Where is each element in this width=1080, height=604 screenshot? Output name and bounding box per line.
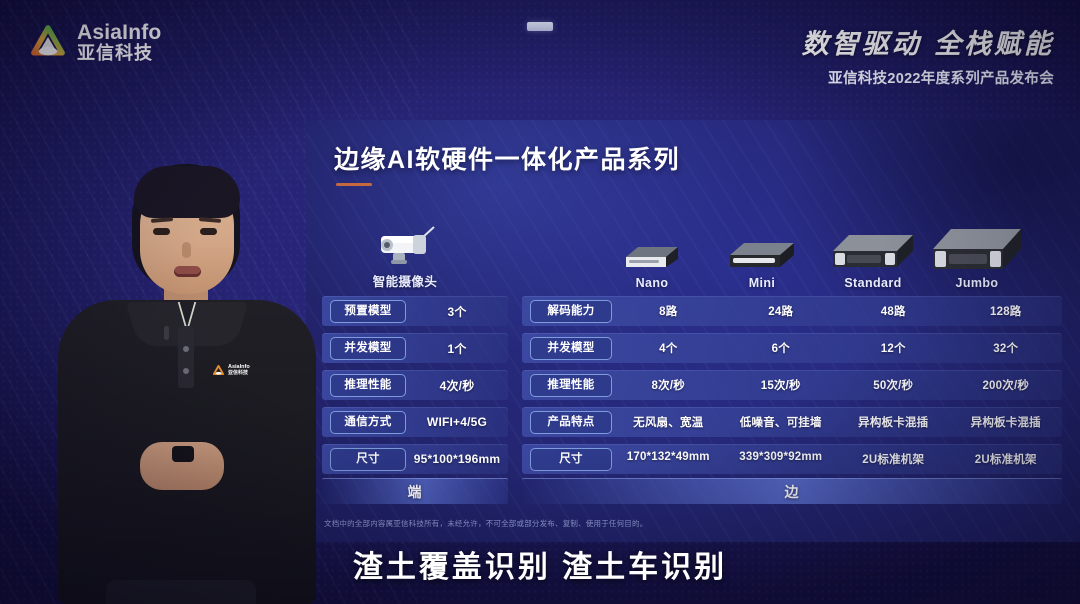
spec-value: 170*132*49mm [612,451,725,467]
minimized-window-handle-icon[interactable] [527,22,553,31]
spec-values: 1个 [406,340,508,357]
presenter-placket [178,326,194,388]
category-bar-device: 端 [322,478,508,504]
spec-value: 95*100*196mm [406,452,508,466]
spec-value: 12个 [837,340,950,356]
ip-camera-icon [350,222,460,266]
spec-values: 170*132*49mm 339*309*92mm 2U标准机架 2U标准机架 [612,451,1062,467]
spec-value: 2U标准机架 [950,451,1063,467]
table-row: 尺寸 170*132*49mm 339*309*92mm 2U标准机架 2U标准… [522,444,1062,474]
device-label: Standard [818,276,928,290]
rack-server-1u-icon [818,227,928,271]
device-column-camera: 智能摄像头 [350,222,460,290]
presenter-badge-cn: 亚信科技 [228,371,250,376]
spec-value: 低噪音、可挂墙 [725,414,838,430]
table-row: 解码能力 8路 24路 48路 128路 [522,296,1062,326]
spec-value: WIFI+4/5G [406,415,508,429]
spec-values: 4次/秒 [406,377,508,394]
device-label: Nano [597,276,707,290]
spec-label: 推理性能 [530,374,612,397]
spec-value: 200次/秒 [950,377,1063,393]
spec-value: 4个 [612,340,725,356]
device-column-mini: Mini [707,227,817,290]
spec-value: 异构板卡混插 [950,414,1063,430]
spec-label: 产品特点 [530,411,612,434]
spec-value: 2U标准机架 [837,451,950,467]
spec-values: 3个 [406,303,508,320]
spec-label: 推理性能 [330,374,406,397]
table-row: 产品特点 无风扇、宽温 低噪音、可挂墙 异构板卡混插 异构板卡混插 [522,407,1062,437]
spec-values: 无风扇、宽温 低噪音、可挂墙 异构板卡混插 异构板卡混插 [612,414,1062,430]
spec-value: 3个 [406,303,508,320]
spec-values: 95*100*196mm [406,452,508,466]
spec-values: 4个 6个 12个 32个 [612,340,1062,356]
slide-title: 边缘AI软硬件一体化产品系列 [334,140,680,176]
spec-value: 无风扇、宽温 [612,414,725,430]
lapel-microphone-icon [164,326,169,340]
device-header-row: 智能摄像头 Nano [322,218,1064,290]
spec-values: WIFI+4/5G [406,415,508,429]
spec-label: 预置模型 [330,300,406,323]
event-header: 数智驱动 全栈赋能 亚信科技2022年度系列产品发布会 [802,22,1054,88]
brand-logo: AsiaInfo 亚信科技 [28,22,161,63]
spec-value: 8次/秒 [612,377,725,393]
spec-value: 15次/秒 [725,377,838,393]
presenter-shirt-button [183,368,189,374]
rack-server-2u-icon [922,227,1032,271]
spec-value: 339*309*92mm [725,451,838,467]
spec-label: 尺寸 [530,448,612,471]
device-column-nano: Nano [597,227,707,290]
title-underline [336,183,372,186]
spec-value: 8路 [612,303,725,319]
spec-value: 6个 [725,340,838,356]
asiainfo-ring-logo-icon [28,22,68,62]
spec-value: 48路 [837,303,950,319]
brand-wordmark: AsiaInfo 亚信科技 [77,22,161,63]
table-row: 推理性能 4次/秒 [322,370,508,400]
presenter-person: AsiaInfo 亚信科技 [36,150,336,604]
edge-box-medium-icon [707,227,817,271]
presentation-slide: 边缘AI软硬件一体化产品系列 智能摄像头 [306,120,1080,542]
presenter-shirt-button [183,346,189,352]
spec-label: 尺寸 [330,448,406,471]
edge-box-small-icon [597,227,707,271]
table-row: 并发模型 4个 6个 12个 32个 [522,333,1062,363]
category-bar-edge: 边 [522,478,1062,504]
spec-label: 解码能力 [530,300,612,323]
spec-values: 8次/秒 15次/秒 50次/秒 200次/秒 [612,377,1062,393]
spec-label: 并发模型 [530,337,612,360]
presentation-clicker-icon [172,446,194,462]
spec-value: 4次/秒 [406,377,508,394]
presenter-eye-left [153,228,170,235]
copyright-disclaimer: 文档中的全部内容属亚信科技所有，未经允许，不可全部或部分发布、复制、使用于任何目… [324,518,647,529]
table-row: 并发模型 1个 [322,333,508,363]
presenter-nose [182,242,191,258]
video-stage: AsiaInfo 亚信科技 数智驱动 全栈赋能 亚信科技2022年度系列产品发布… [0,0,1080,604]
event-slogan: 数智驱动 全栈赋能 [802,22,1054,61]
spec-value: 异构板卡混插 [837,414,950,430]
brand-name-cn: 亚信科技 [77,44,161,62]
spec-table-edge-device: 预置模型 3个 并发模型 1个 推理性能 4次/秒 通信方式 [322,296,508,481]
spec-value: 24路 [725,303,838,319]
presenter-eye-right [200,228,217,235]
spec-values: 8路 24路 48路 128路 [612,303,1062,319]
device-label: 智能摄像头 [350,271,460,290]
spec-value: 128路 [950,303,1063,319]
table-row: 尺寸 95*100*196mm [322,444,508,474]
spec-label: 通信方式 [330,411,406,434]
presenter-badge-text: AsiaInfo 亚信科技 [228,365,250,376]
table-row: 预置模型 3个 [322,296,508,326]
spec-value: 1个 [406,340,508,357]
brand-name-en: AsiaInfo [77,22,161,43]
device-column-jumbo: Jumbo [922,227,1032,290]
bottom-caption: 渣土覆盖识别 渣土车识别 [0,542,1080,586]
presenter-mouth [174,266,201,277]
presenter-fringe [134,166,240,218]
spec-table-edge-servers: 解码能力 8路 24路 48路 128路 并发模型 4个 6个 12个 32个 [522,296,1062,481]
device-column-standard: Standard [818,227,928,290]
spec-value: 50次/秒 [837,377,950,393]
device-label: Jumbo [922,276,1032,290]
table-row: 推理性能 8次/秒 15次/秒 50次/秒 200次/秒 [522,370,1062,400]
table-row: 通信方式 WIFI+4/5G [322,407,508,437]
presenter-chest-logo: AsiaInfo 亚信科技 [212,364,250,377]
device-label: Mini [707,276,817,290]
spec-label: 并发模型 [330,337,406,360]
event-subtitle: 亚信科技2022年度系列产品发布会 [802,67,1054,88]
asiainfo-ring-logo-icon [212,364,225,377]
spec-value: 32个 [950,340,1063,356]
